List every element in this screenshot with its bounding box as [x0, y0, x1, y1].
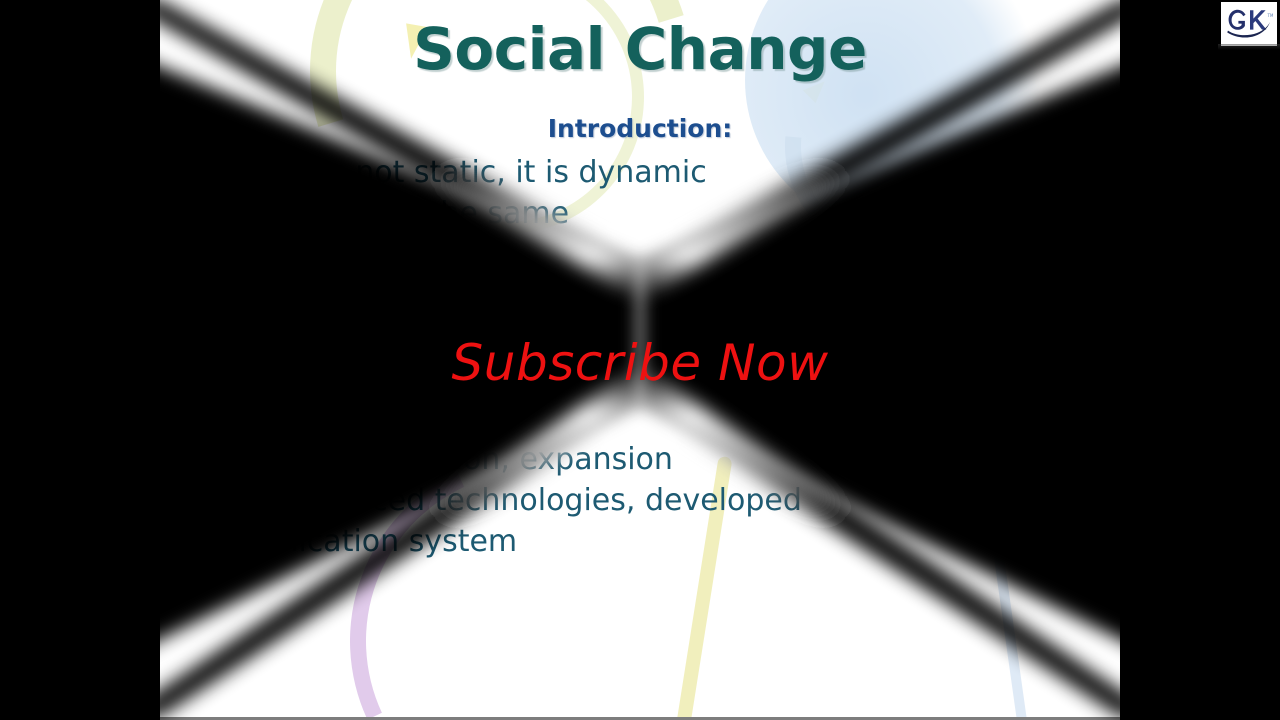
body-spacer [202, 234, 1082, 275]
body-line: mmunication system [202, 521, 1082, 562]
video-stage: Social Change Introduction: Society is n… [0, 0, 1280, 720]
body-line: st else [202, 275, 1082, 316]
svg-text:TM: TM [1267, 13, 1274, 18]
slide-title: Social Change [160, 16, 1120, 82]
body-line: not occur at the same [202, 193, 1082, 234]
body-line: zation, urbanization, expansion [202, 439, 1082, 480]
gk-logo-badge: TM [1221, 2, 1277, 46]
logo-badge-shadow [1218, 44, 1280, 50]
body-line: tion, advanced technologies, developed [202, 480, 1082, 521]
gk-logo-icon: TM [1225, 7, 1273, 41]
slide-subtitle: Introduction: [160, 113, 1120, 145]
subscribe-now-watermark: Subscribe Now [0, 334, 1280, 392]
body-line: Society is not static, it is dynamic [202, 152, 1082, 193]
body-spacer [202, 398, 1082, 439]
